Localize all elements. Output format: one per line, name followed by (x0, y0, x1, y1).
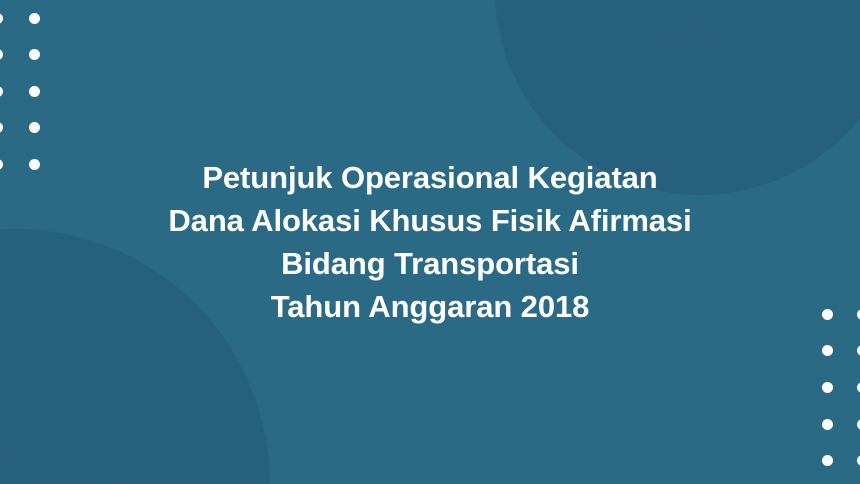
burst-dot (619, 126, 625, 132)
burst-dot (665, 90, 671, 96)
accent-dot (857, 382, 860, 393)
burst-dot (86, 459, 93, 466)
burst-dot (211, 357, 215, 361)
burst-dot (6, 429, 13, 436)
burst-dot (63, 480, 70, 484)
burst-dot (37, 480, 45, 484)
burst-dot (571, 24, 577, 30)
accent-dot (857, 419, 860, 430)
burst-dot (685, 68, 692, 75)
burst-dot (561, 112, 566, 117)
burst-dot (80, 370, 86, 376)
burst-dot (783, 89, 789, 95)
burst-dot (81, 404, 87, 410)
burst-dot (703, 121, 709, 127)
burst-dot (802, 107, 808, 113)
title-slide: Petunjuk Operasional Kegiatan Dana Aloka… (0, 0, 860, 484)
burst-dot (729, 90, 735, 96)
burst-dot (830, 74, 836, 80)
burst-dot (27, 460, 35, 468)
burst-dot (577, 128, 582, 133)
burst-dot (712, 10, 720, 18)
burst-dot (766, 131, 772, 137)
burst-dot (0, 352, 1, 358)
burst-dot (192, 376, 197, 381)
burst-dot (571, 83, 577, 89)
burst-dot (238, 417, 242, 421)
burst-dot (660, 143, 666, 149)
burst-dot (527, 56, 532, 61)
burst-dot (174, 397, 179, 402)
burst-dot (107, 438, 113, 444)
burst-dot (63, 422, 70, 429)
burst-dot (23, 403, 30, 410)
burst-dot (548, 95, 553, 100)
burst-dot (246, 460, 250, 464)
accent-dot (822, 419, 833, 430)
accent-dot (0, 122, 3, 133)
burst-dot (708, 94, 714, 100)
burst-dot (551, 45, 557, 51)
burst-dot (659, 115, 665, 121)
burst-dot (766, 68, 772, 74)
burst-dot (589, 64, 595, 70)
burst-dot (166, 341, 171, 346)
burst-dot (818, 128, 823, 133)
burst-dot (114, 459, 120, 465)
burst-dot (132, 381, 138, 387)
burst-dot (631, 33, 638, 40)
burst-dot (140, 459, 146, 465)
accent-dot (0, 86, 3, 97)
burst-dot (745, 140, 751, 146)
burst-dot (116, 332, 121, 337)
burst-dot (60, 333, 66, 339)
burst-dot (560, 64, 566, 70)
burst-dot (585, 100, 591, 106)
burst-dot (681, 146, 687, 152)
burst-dot (799, 12, 805, 18)
burst-dot (602, 33, 608, 39)
burst-dot (801, 141, 806, 146)
burst-dot (798, 73, 804, 79)
burst-dot (155, 418, 161, 424)
title-line-3: Bidang Transportasi (0, 242, 860, 285)
burst-dot (771, 13, 778, 20)
burst-dot (594, 141, 599, 146)
burst-dot (817, 92, 823, 98)
burst-dot (44, 410, 51, 417)
burst-dot (712, 40, 719, 47)
burst-dot (645, 81, 651, 87)
burst-dot (521, 35, 526, 40)
burst-dot (189, 438, 194, 443)
burst-dot (220, 460, 225, 465)
burst-dot (622, 13, 629, 20)
burst-dot (820, 34, 826, 40)
burst-dot (639, 136, 645, 142)
burst-dot (749, 81, 755, 87)
burst-dot (243, 438, 247, 442)
burst-dot (145, 399, 151, 405)
burst-dot (96, 420, 102, 426)
burst-dot (27, 431, 34, 438)
accent-dot (29, 49, 40, 60)
burst-dot (765, 102, 771, 108)
burst-dot (670, 35, 677, 42)
burst-dot (39, 354, 45, 360)
burst-dot (542, 2, 548, 8)
burst-dot (784, 121, 790, 127)
burst-dot (1, 377, 7, 383)
burst-dot (198, 339, 202, 343)
burst-dot (162, 438, 168, 444)
burst-dot (517, 13, 522, 18)
burst-dot (113, 399, 119, 405)
burst-dot (59, 459, 66, 466)
accent-dot (29, 13, 40, 24)
burst-dot (811, 54, 817, 60)
burst-dot (0, 403, 7, 410)
burst-dot (731, 29, 738, 36)
burst-dot (645, 50, 652, 57)
burst-dot (567, 2, 573, 8)
burst-dot (60, 360, 66, 366)
burst-dot (595, 12, 601, 18)
burst-dot (216, 438, 221, 443)
burst-dot (703, 147, 709, 153)
burst-dot (90, 481, 97, 484)
burst-dot (847, 95, 852, 100)
burst-dot (135, 438, 141, 444)
accent-dot (822, 345, 833, 356)
burst-dot (98, 383, 104, 389)
burst-dot (724, 145, 730, 151)
burst-dot (686, 94, 692, 100)
burst-dot (117, 365, 123, 371)
burst-dot (149, 361, 154, 366)
burst-dot (77, 438, 84, 445)
accent-dot (0, 13, 3, 24)
burst-dot (834, 112, 839, 117)
burst-dot (44, 382, 50, 388)
burst-dot (762, 33, 769, 40)
burst-dot (840, 55, 846, 61)
burst-dot (536, 76, 541, 81)
burst-dot (579, 45, 585, 51)
burst-dot (23, 377, 29, 383)
burst-dot (5, 455, 13, 463)
accent-dot (857, 345, 860, 356)
burst-dot (724, 118, 730, 124)
burst-dot (601, 114, 607, 120)
burst-dot (193, 460, 198, 465)
accent-dot (822, 455, 833, 466)
burst-dot (222, 376, 226, 380)
title-line-1: Petunjuk Operasional Kegiatan (0, 156, 860, 199)
burst-dot (825, 13, 831, 19)
burst-dot (852, 13, 858, 19)
burst-dot (167, 460, 173, 466)
burst-dot (729, 62, 736, 69)
burst-dot (638, 107, 644, 113)
burst-dot (681, 120, 687, 126)
burst-dot (744, 12, 751, 19)
burst-dot (18, 351, 24, 357)
title-line-2: Dana Alokasi Khusus Fisik Afirmasi (0, 199, 860, 242)
accent-dot (822, 382, 833, 393)
accent-dot (29, 122, 40, 133)
burst-dot (847, 34, 853, 40)
burst-dot (781, 52, 787, 58)
burst-dot (654, 21, 661, 28)
accent-dot (29, 86, 40, 97)
burst-dot (162, 378, 167, 383)
burst-dot (613, 52, 619, 58)
burst-dot (748, 50, 755, 57)
burst-dot (126, 418, 132, 424)
burst-dot (673, 1, 681, 9)
accent-dot (857, 455, 860, 466)
burst-dot (620, 96, 626, 102)
burst-dot (664, 62, 671, 69)
burst-dot (645, 1, 652, 8)
burst-dot (183, 417, 188, 422)
burst-dot (202, 396, 207, 401)
accent-dot (0, 49, 3, 60)
burst-dot (603, 81, 609, 87)
burst-dot (99, 352, 105, 358)
burst-dot (545, 24, 551, 30)
burst-dot (46, 442, 53, 449)
burst-dot (81, 341, 87, 347)
burst-dot (39, 328, 45, 334)
burst-dot (133, 345, 138, 350)
burst-dot (691, 42, 698, 49)
burst-dot (690, 15, 698, 23)
burst-dot (708, 68, 715, 75)
burst-dot (792, 33, 798, 39)
slide-title: Petunjuk Operasional Kegiatan Dana Aloka… (0, 156, 860, 328)
burst-dot (627, 68, 633, 74)
title-line-4: Tahun Anggaran 2018 (0, 285, 860, 328)
burst-dot (231, 396, 235, 400)
burst-dot (745, 112, 751, 118)
burst-dot (180, 358, 185, 363)
burst-dot (210, 416, 215, 421)
burst-dot (64, 391, 70, 397)
